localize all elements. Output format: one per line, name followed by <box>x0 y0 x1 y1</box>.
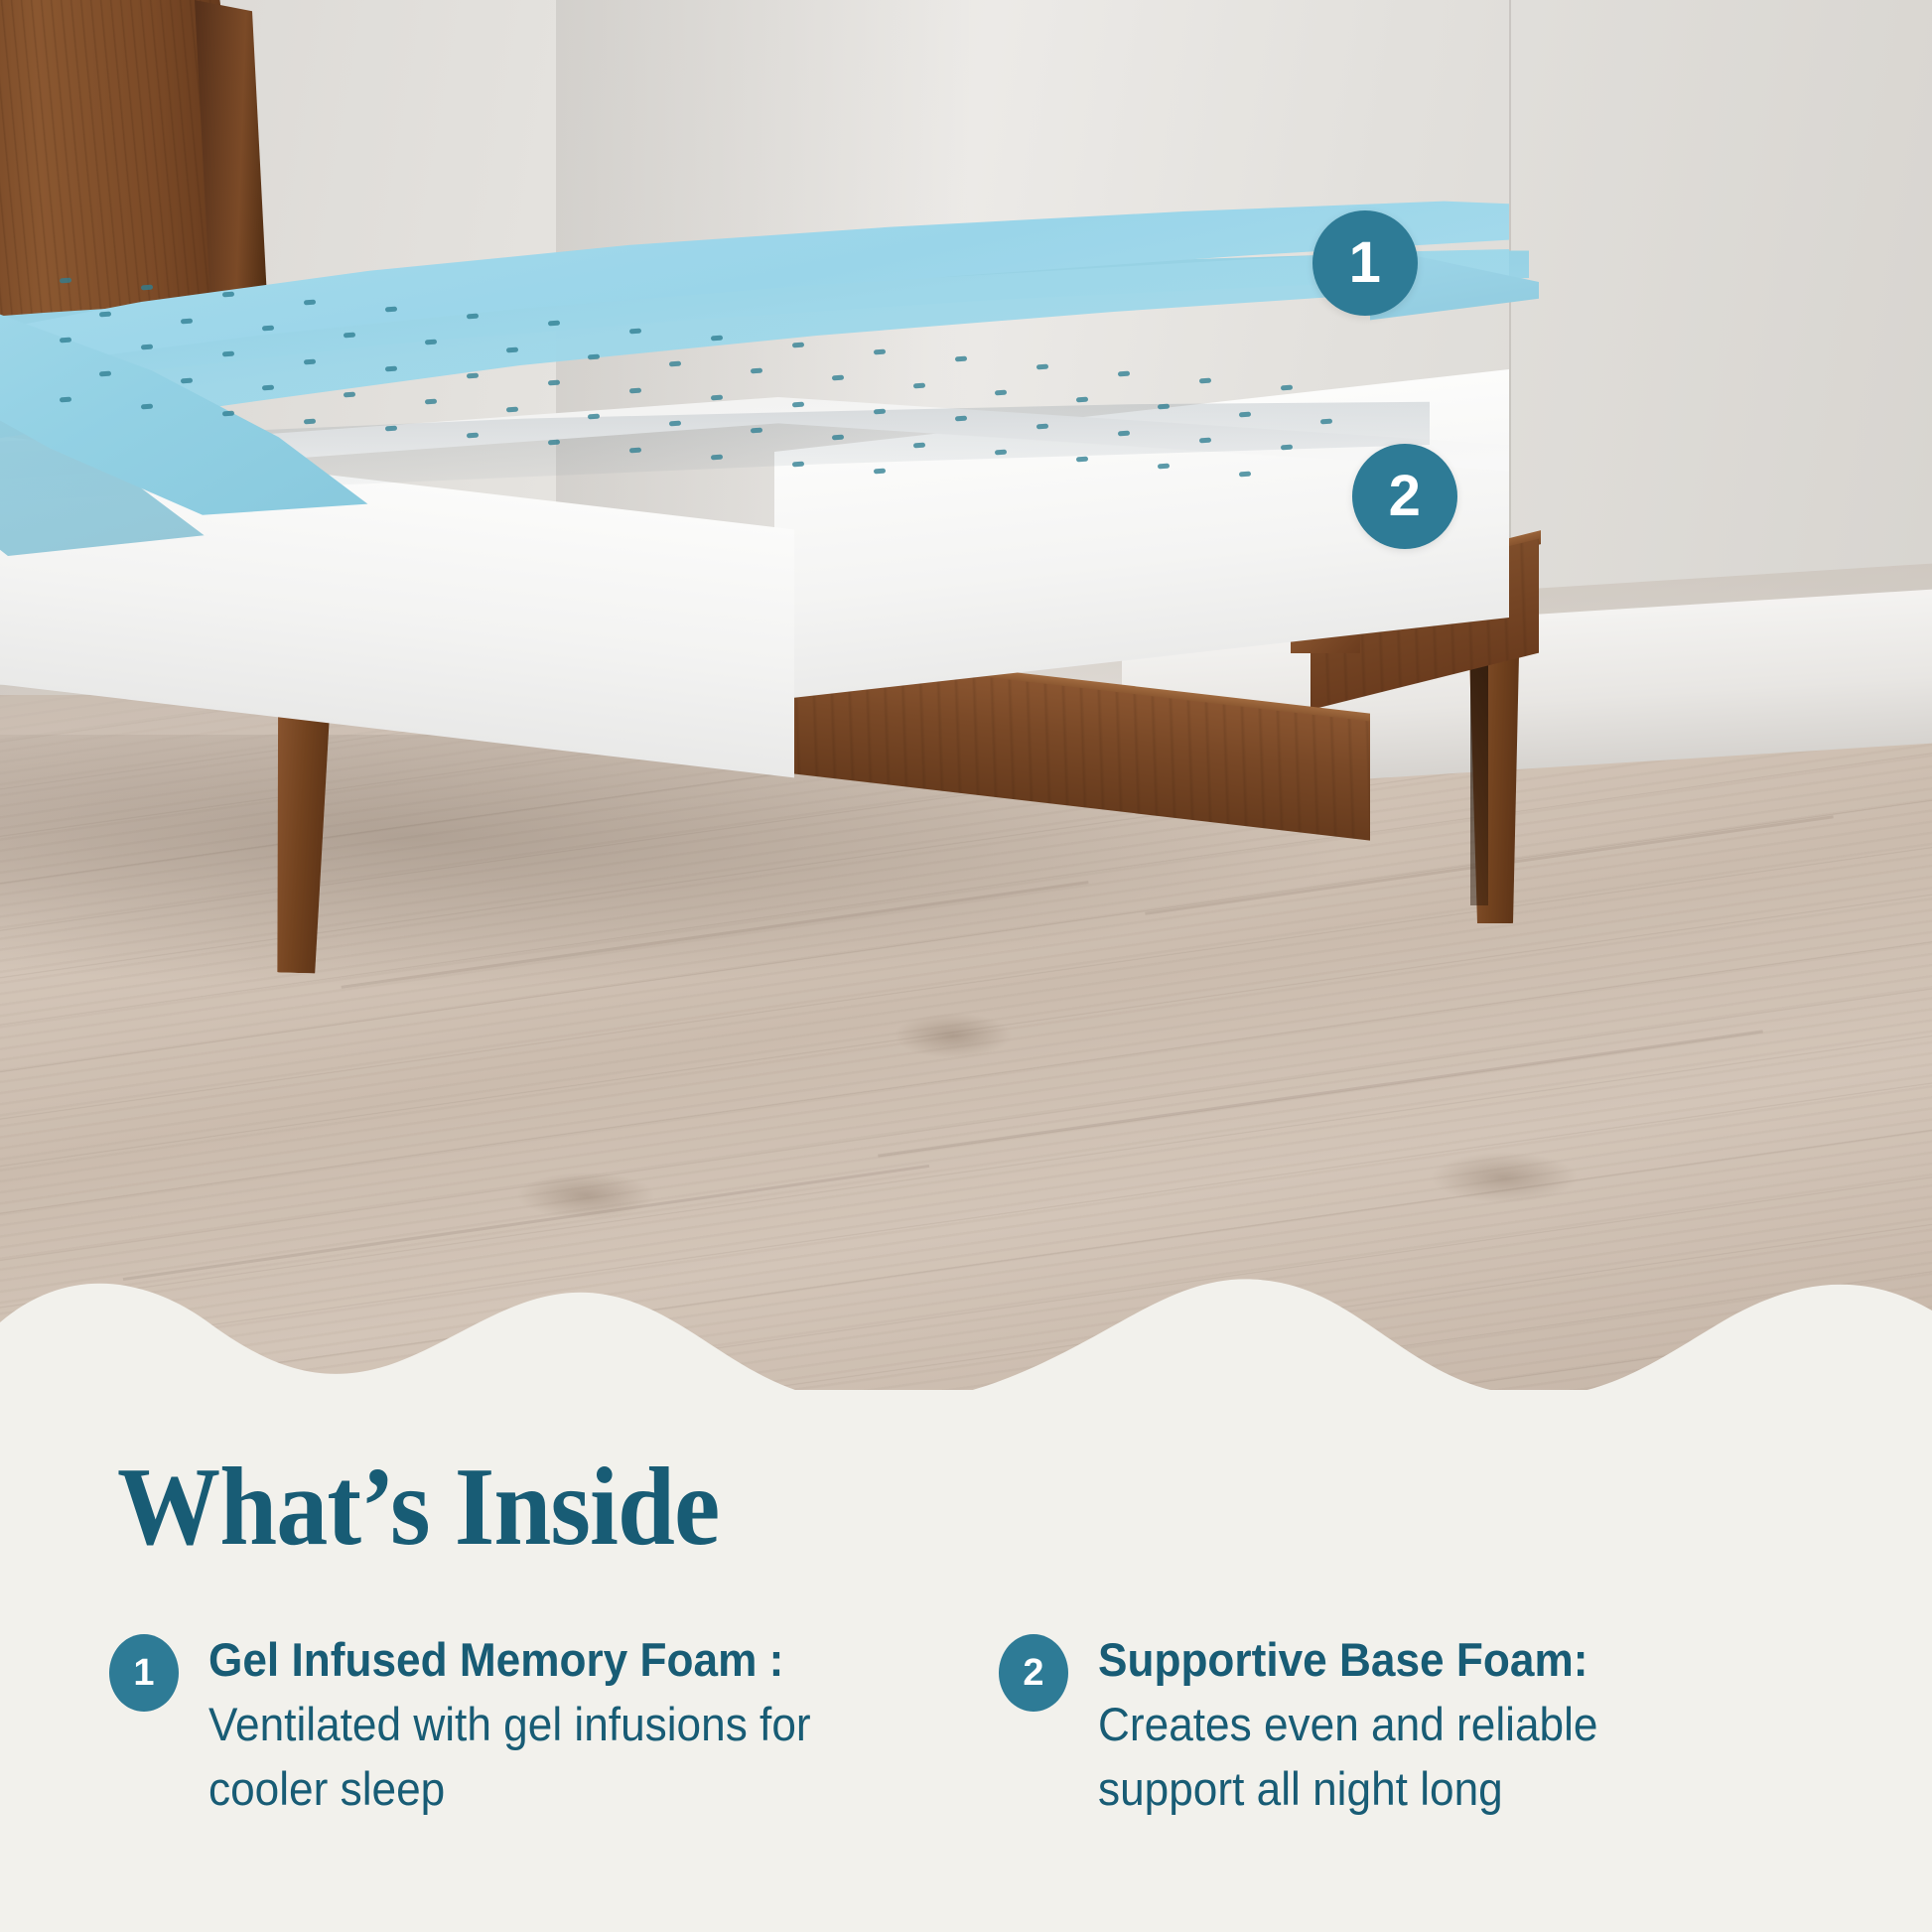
feature-item-1: 1 Gel Infused Memory Foam : Ventilated w… <box>109 1628 894 1822</box>
whats-inside-panel: What’s Inside 1 Gel Infused Memory Foam … <box>0 1390 1932 1932</box>
feature-text-2: Supportive Base Foam: Creates even and r… <box>1098 1628 1742 1822</box>
feature-body-2: Creates even and reliable support all ni… <box>1098 1698 1597 1815</box>
feature-badge-2: 2 <box>999 1634 1068 1712</box>
feature-text-1: Gel Infused Memory Foam : Ventilated wit… <box>208 1628 853 1822</box>
floor-grain-knot <box>894 1013 1013 1058</box>
product-infographic: 1 2 What’s Inside 1 Gel Infused Memory F… <box>0 0 1932 1932</box>
photo-marker-1[interactable]: 1 <box>1312 210 1418 316</box>
bed-leg-right-shadow <box>1470 657 1488 905</box>
page-title: What’s Inside <box>117 1451 719 1563</box>
feature-badge-1: 1 <box>109 1634 179 1712</box>
wave-divider <box>0 1271 1932 1390</box>
floor-grain-knot <box>516 1172 655 1219</box>
feature-item-2: 2 Supportive Base Foam: Creates even and… <box>999 1628 1783 1822</box>
product-photo: 1 2 <box>0 0 1932 1390</box>
feature-body-1: Ventilated with gel infusions for cooler… <box>208 1698 811 1815</box>
floor-grain-knot <box>1430 1152 1579 1203</box>
feature-lead-2: Supportive Base Foam: <box>1098 1633 1587 1686</box>
feature-lead-1: Gel Infused Memory Foam : <box>208 1633 783 1686</box>
feature-list: 1 Gel Infused Memory Foam : Ventilated w… <box>109 1628 1857 1822</box>
photo-marker-2[interactable]: 2 <box>1352 444 1457 549</box>
